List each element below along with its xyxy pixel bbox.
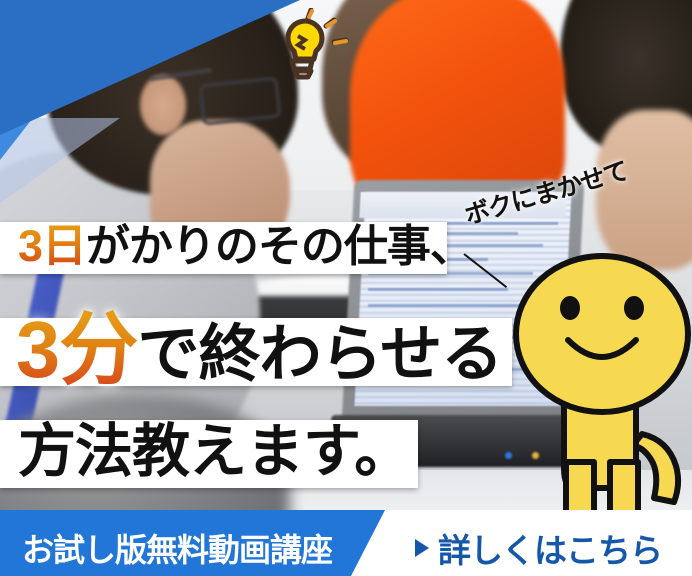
headline-line-1: 3日がかりのその仕事、 — [18, 224, 473, 269]
lightbulb-icon — [258, 8, 354, 84]
triangle-right-icon — [415, 539, 429, 557]
cta-link-label: 詳しくはこちら — [438, 524, 662, 572]
promo-banner: ボクにまかせて 3日がかり — [0, 0, 692, 576]
headline-highlight-3days: 3日 — [18, 220, 86, 271]
cta-bar[interactable]: お試し版無料動画講座 詳しくはこちら — [0, 510, 692, 576]
headline-highlight-3min: 3分 — [16, 305, 138, 394]
cta-details-link[interactable]: 詳しくはこちら — [415, 524, 662, 572]
smiley-mascot — [492, 236, 692, 536]
headline-line-2-rest: で終わらせる — [138, 320, 503, 389]
headline-line-3: 方法教えます。 — [18, 423, 411, 481]
headline-line-2: 3分で終わらせる — [16, 310, 502, 389]
cta-badge-label: お試し版無料動画講座 — [22, 525, 332, 571]
headline-line-1-rest: がかりのその仕事、 — [86, 222, 473, 271]
